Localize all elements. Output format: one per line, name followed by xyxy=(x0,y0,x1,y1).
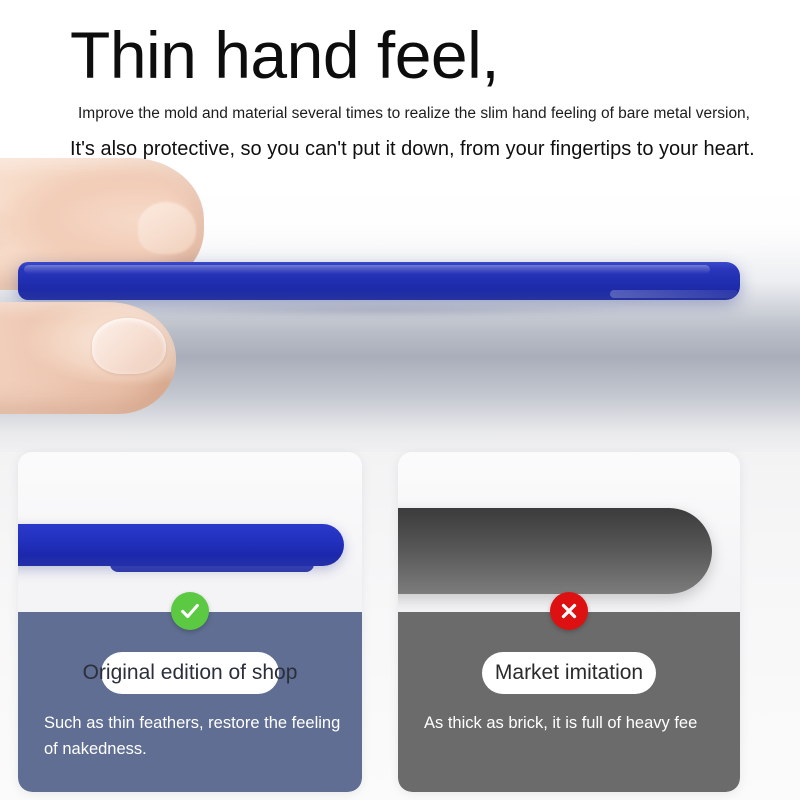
thumbnail xyxy=(92,318,166,374)
x-circle-icon xyxy=(550,592,588,630)
card-label-original: Original edition of shop xyxy=(18,652,362,694)
page-title: Thin hand feel, xyxy=(70,18,499,92)
thumb xyxy=(0,302,176,414)
comparison-card-original: Original edition of shop Such as thin fe… xyxy=(18,452,362,792)
card-description-original: Such as thin feathers, restore the feeli… xyxy=(44,710,352,762)
product-marketing-image: Thin hand feel, Improve the mold and mat… xyxy=(0,0,800,800)
comparison-card-imitation: Market imitation As thick as brick, it i… xyxy=(398,452,740,792)
card-overlay-right: Market imitation As thick as brick, it i… xyxy=(398,612,740,792)
thin-case-edge xyxy=(18,524,344,566)
phone-case-edge xyxy=(18,262,740,300)
subtitle-line-1: Improve the mold and material several ti… xyxy=(78,104,750,124)
check-circle-icon xyxy=(171,592,209,630)
hero-product-photo xyxy=(0,150,800,450)
card-overlay-left: Original edition of shop Such as thin fe… xyxy=(18,612,362,792)
card-label-imitation: Market imitation xyxy=(398,652,740,694)
knuckle-crease xyxy=(0,208,22,252)
card-description-imitation: As thick as brick, it is full of heavy f… xyxy=(424,710,730,736)
thick-case-edge xyxy=(398,508,712,594)
